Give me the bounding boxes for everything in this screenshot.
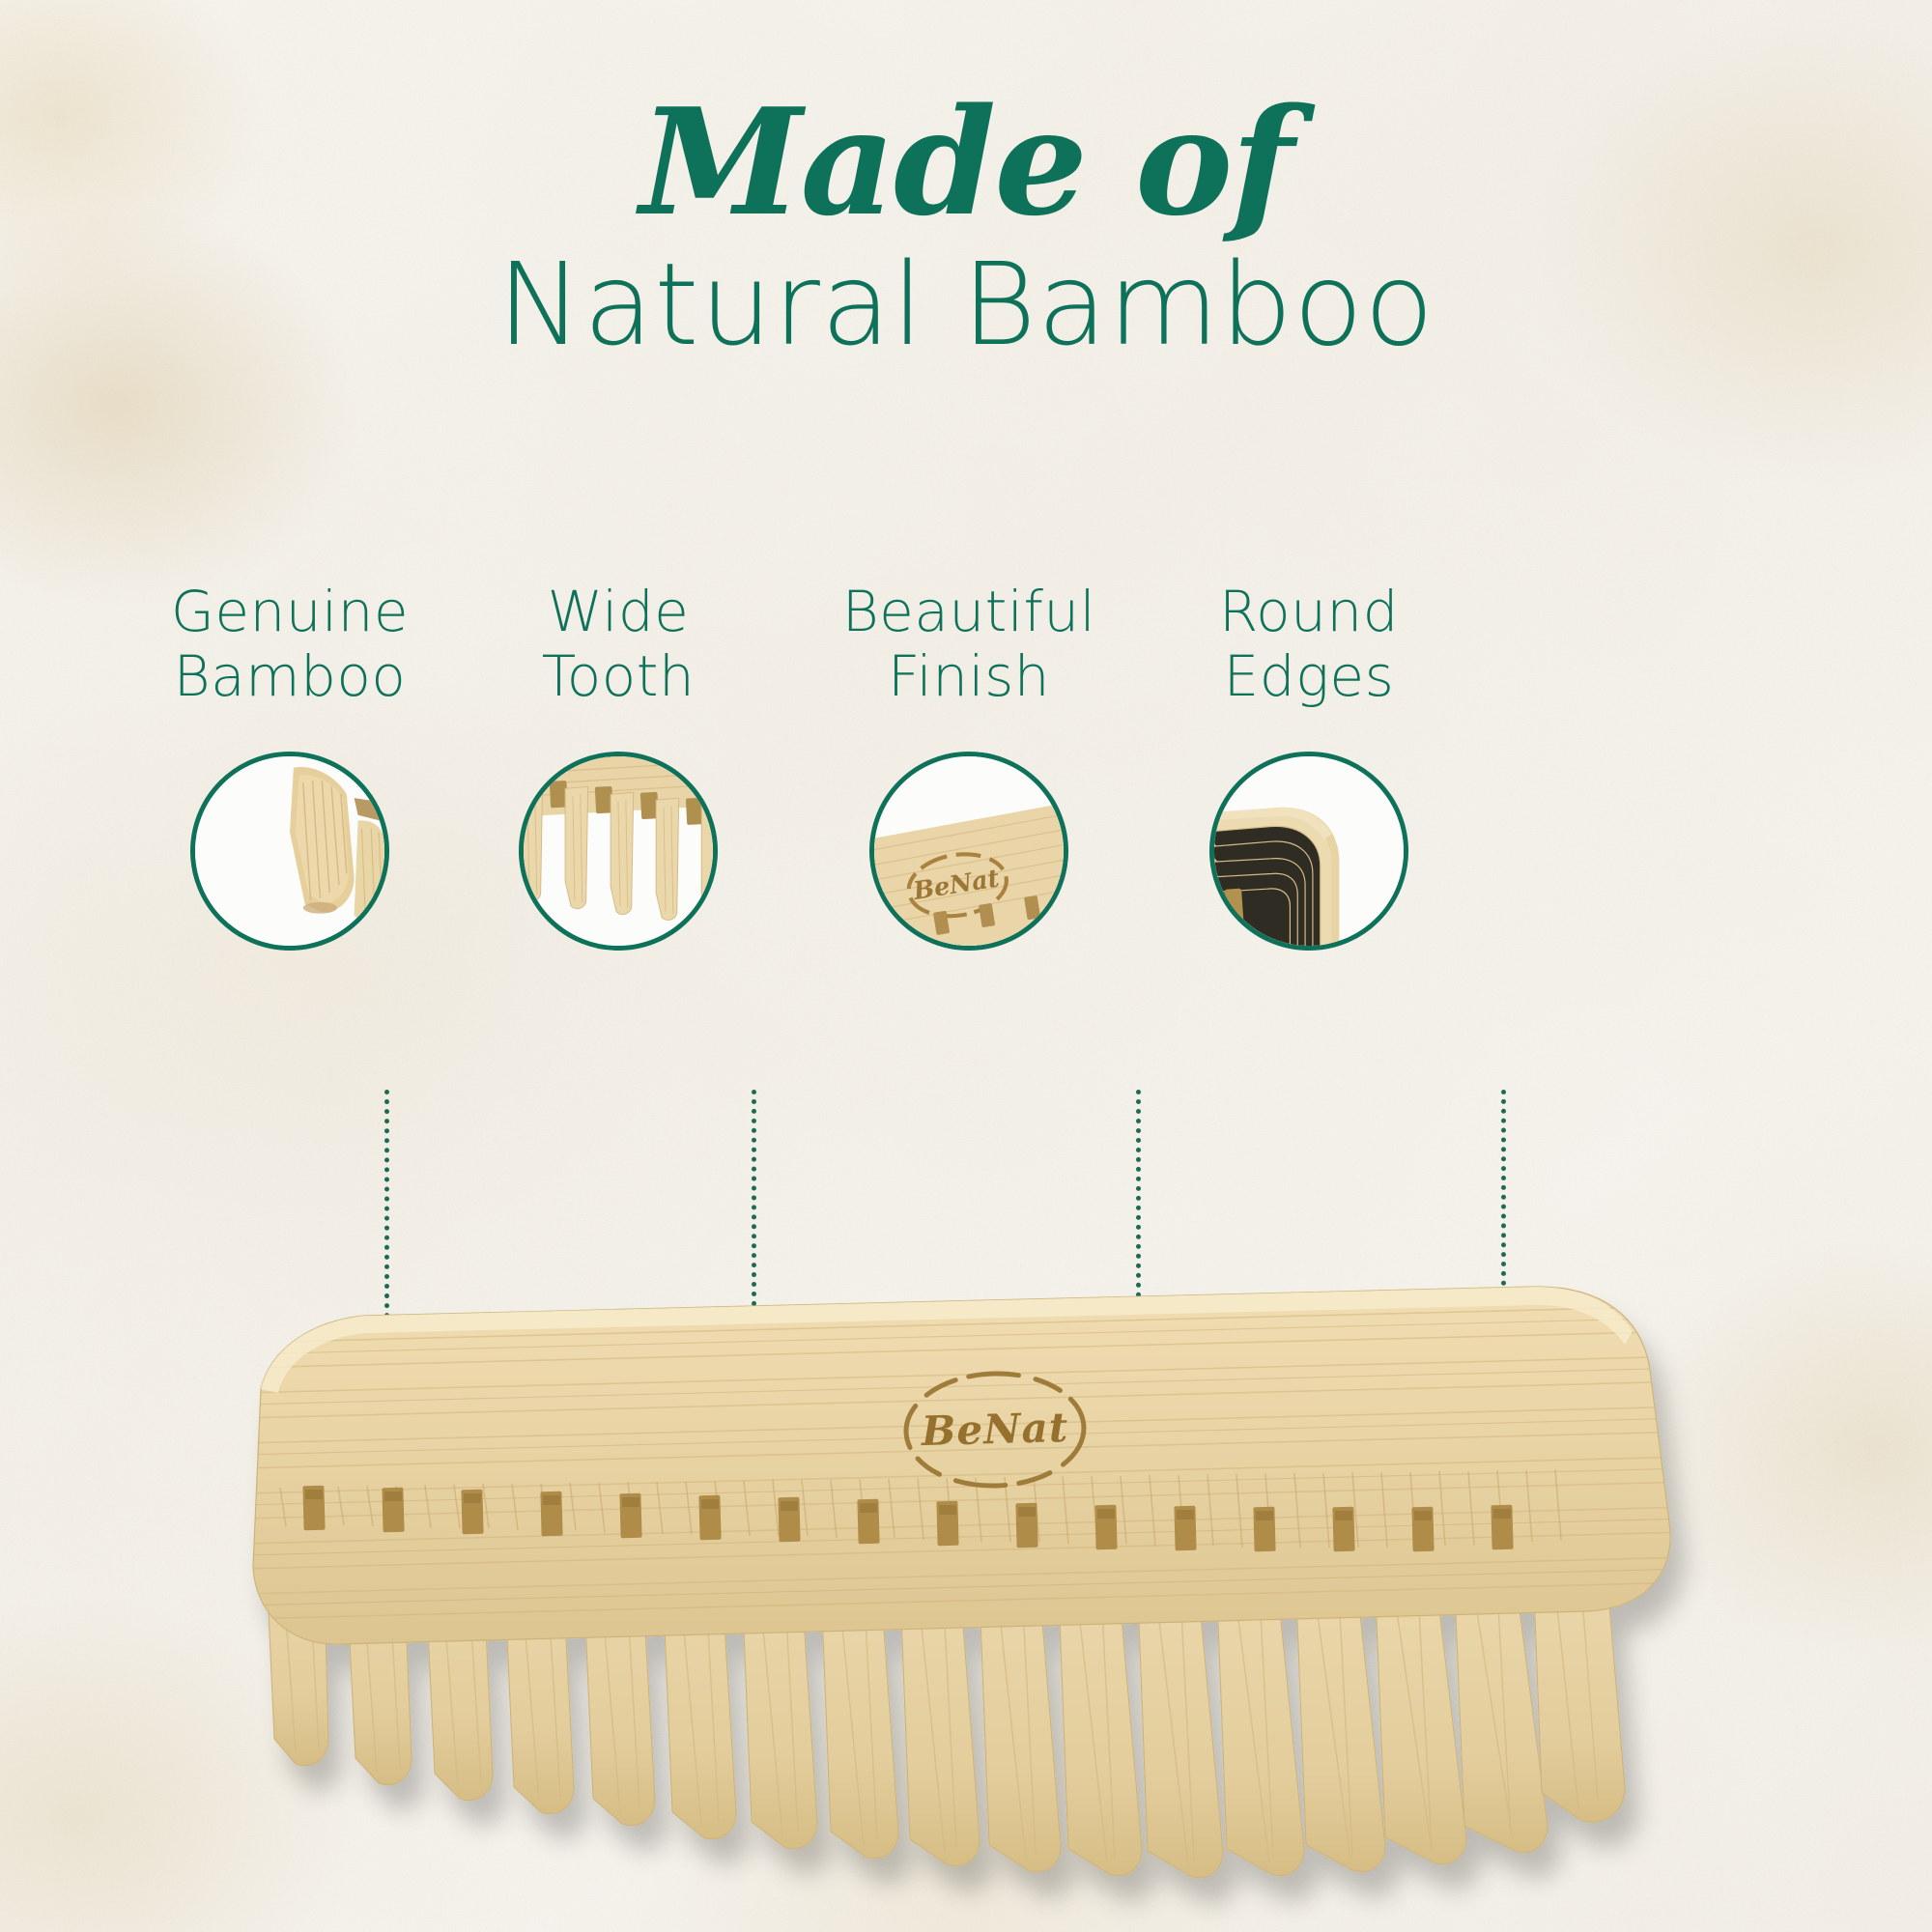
feature-item-wide-tooth: Wide Tooth — [459, 580, 778, 710]
title-script-line: Made of — [0, 89, 1932, 236]
bamboo-comb-product-image: BeNat — [222, 1285, 1729, 1884]
feature-item-beautiful-finish: Beautiful Finish BeNat — [810, 580, 1128, 710]
bamboo-teeth-closeup-icon — [190, 752, 389, 951]
infographic-canvas: Made of Natural Bamboo Genuine Bamboo — [0, 0, 1932, 1932]
comb-brand-engraving: BeNat — [920, 1404, 1069, 1455]
feature-item-round-edges: Round Edges — [1150, 580, 1468, 710]
page-title: Made of Natural Bamboo — [0, 89, 1932, 366]
wide-tooth-closeup-icon — [519, 752, 718, 951]
feature-item-genuine-bamboo: Genuine Bamboo — [130, 580, 449, 710]
feature-label: Wide Tooth — [459, 580, 778, 710]
rounded-corner-closeup-icon — [1209, 752, 1408, 951]
feature-label: Genuine Bamboo — [130, 580, 449, 710]
title-subtitle-line: Natural Bamboo — [0, 243, 1932, 366]
feature-label: Beautiful Finish — [810, 580, 1128, 710]
feature-label: Round Edges — [1150, 580, 1468, 710]
feature-list: Genuine Bamboo — [0, 580, 1932, 1082]
engraved-logo-closeup-icon: BeNat — [869, 752, 1068, 951]
